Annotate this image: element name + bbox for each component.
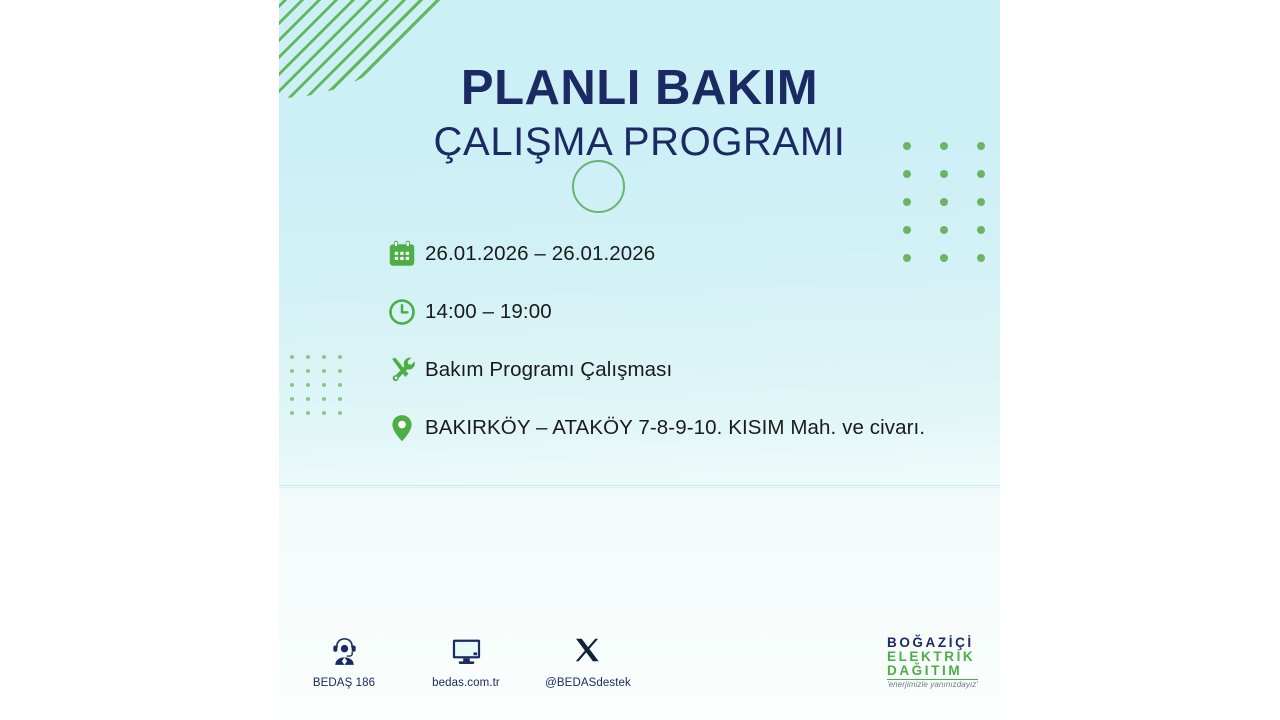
divider-line [279,485,1000,486]
brand-tagline: 'enerjimizle yanınızdayız' [887,681,978,689]
tools-icon [379,355,425,385]
circle-outline-decoration [572,160,625,213]
location-pin-icon [379,413,425,443]
detail-work-type-value: Bakım Programı Çalışması [425,358,672,382]
calendar-icon [379,239,425,269]
detail-row-time: 14:00 – 19:00 [379,286,979,338]
page-title: PLANLI BAKIM [279,62,1000,115]
detail-time-value: 14:00 – 19:00 [425,300,552,324]
contact-channels: BEDAŞ 186 bedas.com.tr [301,632,631,689]
detail-row-location: BAKIRKÖY – ATAKÖY 7-8-9-10. KISIM Mah. v… [379,402,979,454]
clock-icon [379,297,425,327]
detail-date-value: 26.01.2026 – 26.01.2026 [425,242,655,266]
x-twitter-icon [573,632,603,670]
bedas-logo: BOĞAZİÇİ ELEKTRİK DAĞITIM 'enerjimizle y… [887,636,978,689]
contact-website[interactable]: bedas.com.tr [423,632,509,689]
page-subtitle: ÇALIŞMA PROGRAMI [279,121,1000,164]
detail-location-value: BAKIRKÖY – ATAKÖY 7-8-9-10. KISIM Mah. v… [425,416,925,440]
poster-heading: PLANLI BAKIM ÇALIŞMA PROGRAMI [279,62,1000,164]
contact-social[interactable]: @BEDASdestek [545,632,631,689]
detail-row-date: 26.01.2026 – 26.01.2026 [379,228,979,280]
divider-line-soft [279,487,1000,488]
brand-line-2: ELEKTRİK [887,650,978,664]
monitor-icon [450,632,483,670]
brand-line-3: DAĞITIM [887,664,978,678]
dot-grid-left-decoration [290,355,354,425]
planned-maintenance-poster: PLANLI BAKIM ÇALIŞMA PROGRAMI [279,0,1000,720]
detail-row-work-type: Bakım Programı Çalışması [379,344,979,396]
contact-phone-label: BEDAŞ 186 [313,677,375,689]
maintenance-details-list: 26.01.2026 – 26.01.2026 14:00 – 19:00 [379,228,979,460]
brand-line-1: BOĞAZİÇİ [887,636,978,650]
screenshot-root: PLANLI BAKIM ÇALIŞMA PROGRAMI [0,0,1280,720]
contact-social-label: @BEDASdestek [545,677,631,689]
call-center-agent-icon [328,632,361,670]
poster-footer: BEDAŞ 186 bedas.com.tr [279,632,1000,712]
contact-website-label: bedas.com.tr [432,677,500,689]
contact-phone[interactable]: BEDAŞ 186 [301,632,387,689]
